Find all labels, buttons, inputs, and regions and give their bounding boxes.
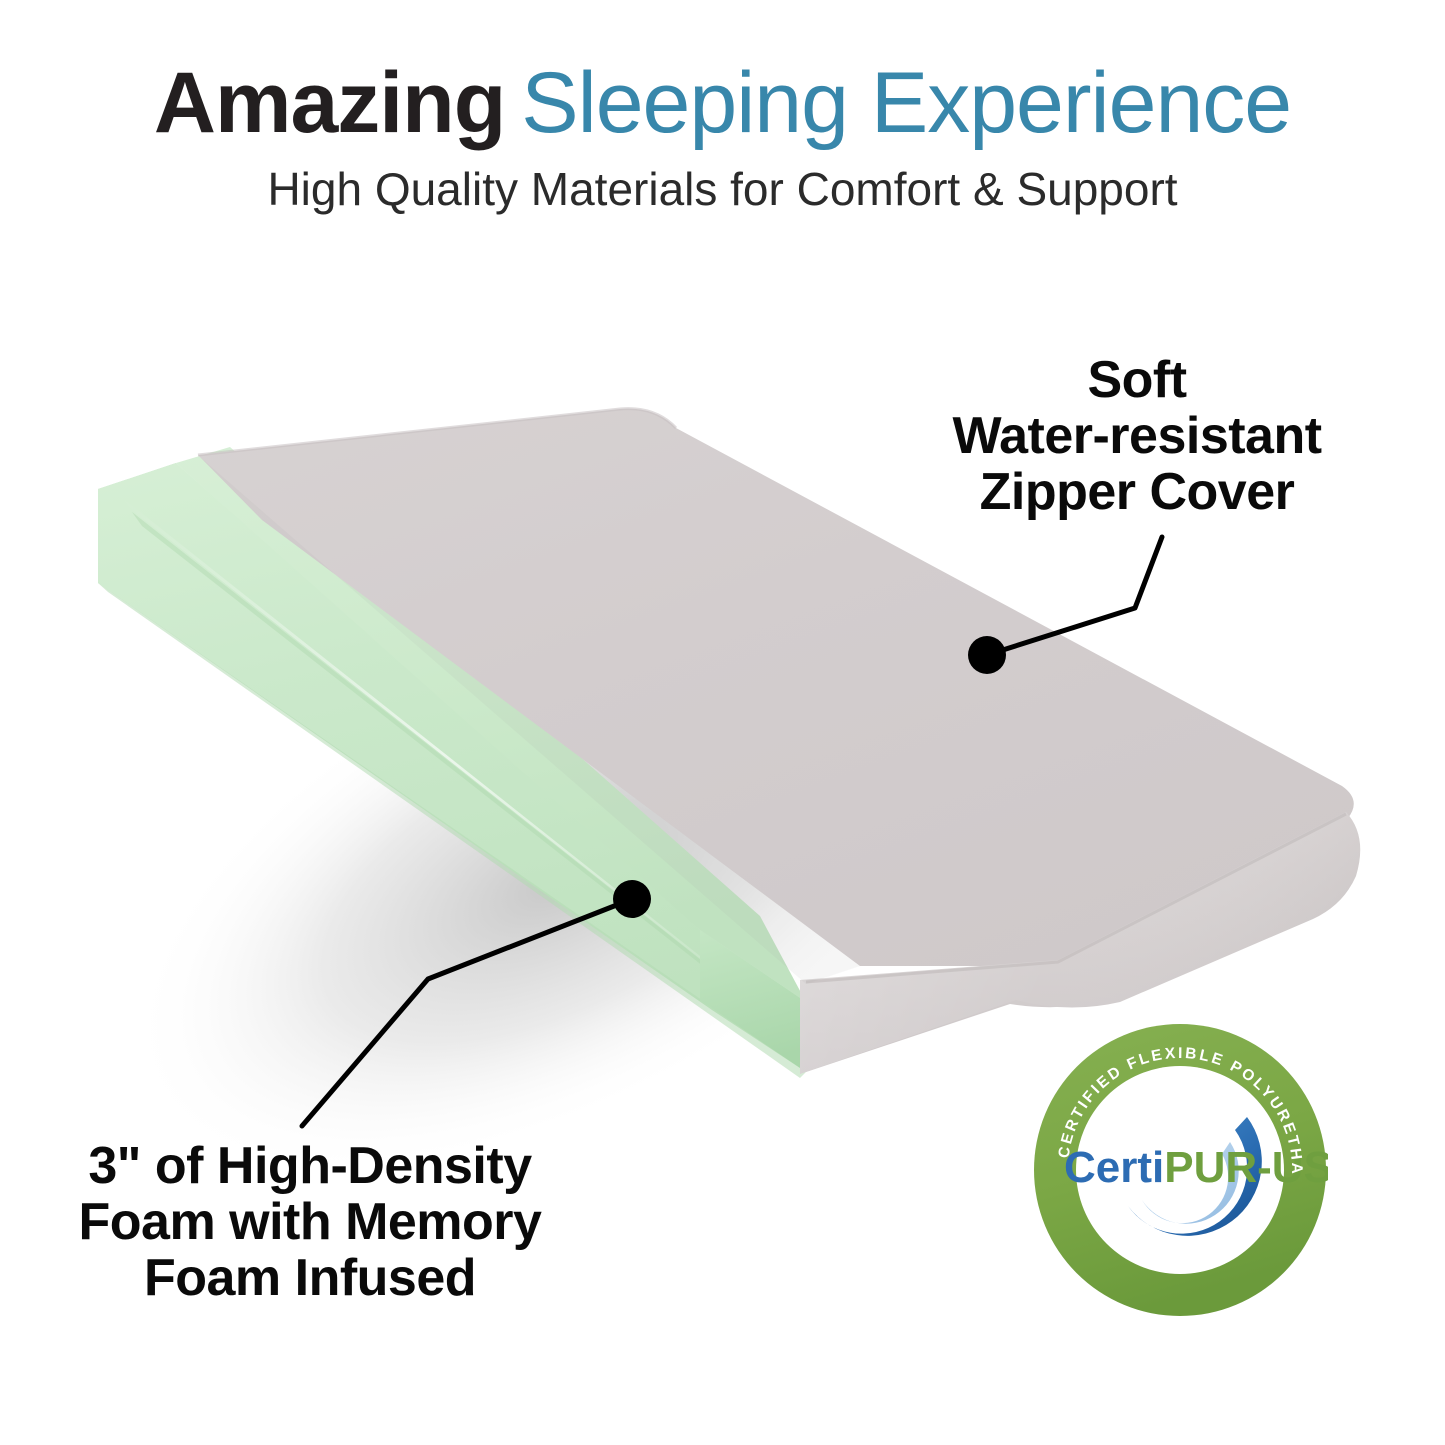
leader-dot-cover xyxy=(968,636,1006,674)
badge-wordmark-certi: Certi xyxy=(1064,1143,1164,1192)
callout-foam-core-line-1: 3" of High-Density xyxy=(30,1138,590,1194)
infographic-page: AmazingSleeping Experience High Quality … xyxy=(0,0,1445,1445)
callout-foam-core-line-3: Foam Infused xyxy=(30,1250,590,1306)
callout-zipper-cover-line-1: Soft xyxy=(877,352,1397,408)
callout-zipper-cover-line-3: Zipper Cover xyxy=(877,464,1397,520)
callout-zipper-cover: Soft Water-resistant Zipper Cover xyxy=(877,352,1397,520)
callout-foam-core: 3" of High-Density Foam with Memory Foam… xyxy=(30,1138,590,1306)
callout-zipper-cover-line-2: Water-resistant xyxy=(877,408,1397,464)
certipur-us-badge: CertiPUR-US® CONTAINS CERTIFIED FLEXIBLE… xyxy=(1032,1022,1328,1318)
leader-dot-foam xyxy=(613,880,651,918)
callout-foam-core-line-2: Foam with Memory xyxy=(30,1194,590,1250)
